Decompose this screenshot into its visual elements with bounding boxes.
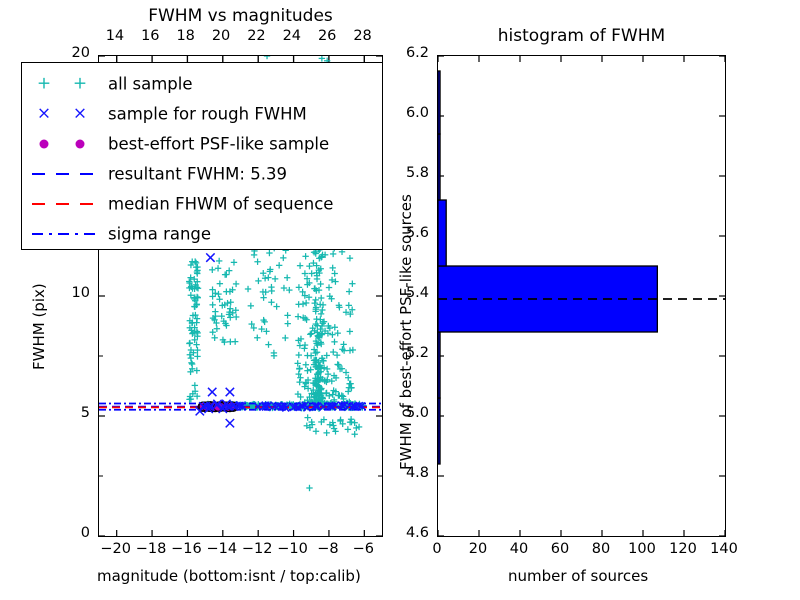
tick-label: 20: [212, 28, 230, 44]
left-panel-title: FWHM vs magnitudes: [98, 6, 383, 26]
legend-label: all sample: [108, 75, 193, 94]
cross-icon: ×: [73, 106, 87, 123]
tick-label: 28: [353, 28, 371, 44]
tick-label: 4.6: [0, 525, 429, 541]
figure-canvas: FWHM vs magnitudes 1416182022242628 0510…: [0, 0, 800, 600]
legend-label: best-effort PSF-like sample: [108, 135, 329, 154]
tick-label: −6: [341, 541, 385, 557]
histogram-bars: [438, 71, 657, 464]
histogram-bar: [438, 71, 440, 134]
tick-label: 60: [538, 541, 582, 557]
tick-label: 80: [579, 541, 623, 557]
legend-item: median FHWM of sequence: [22, 189, 382, 219]
legend-item: sigma range: [22, 219, 382, 249]
dashed-line-icon: [32, 173, 100, 175]
tick-label: 6.2: [0, 45, 429, 61]
tick-label: 22: [247, 28, 265, 44]
legend: ++all sample××sample for rough FWHMbest-…: [21, 62, 383, 250]
tick-label: 5.0: [0, 405, 429, 421]
legend-item: resultant FWHM: 5.39: [22, 159, 382, 189]
legend-item: ××sample for rough FWHM: [22, 99, 382, 129]
tick-label: 26: [318, 28, 336, 44]
tick-label: 16: [141, 28, 159, 44]
tick-label: 140: [702, 541, 746, 557]
tick-label: 5.4: [0, 285, 429, 301]
tick-label: 5.2: [0, 345, 429, 361]
plus-icon: +: [73, 76, 87, 93]
tick-label: 18: [176, 28, 194, 44]
legend-item: ++all sample: [22, 69, 382, 99]
dashdot-line-icon: [32, 233, 100, 235]
circle-icon: [76, 140, 85, 149]
histogram-bar: [438, 134, 440, 200]
plus-icon: +: [37, 76, 51, 93]
right-panel-xlabel: number of sources: [508, 567, 648, 585]
legend-label: median FHWM of sequence: [108, 195, 333, 214]
histogram-bar: [438, 332, 440, 398]
tick-label: 24: [283, 28, 301, 44]
circle-icon: [40, 140, 49, 149]
tick-label: 4.8: [0, 465, 429, 481]
right-plot-area: [437, 55, 726, 537]
tick-label: 100: [620, 541, 664, 557]
legend-label: resultant FWHM: 5.39: [108, 165, 287, 184]
legend-label: sigma range: [108, 225, 211, 244]
tick-label: 40: [497, 541, 541, 557]
tick-label: 20: [456, 541, 500, 557]
dashed-line-icon: [32, 203, 100, 205]
legend-item: best-effort PSF-like sample: [22, 129, 382, 159]
histogram-plot-svg: [438, 56, 725, 536]
histogram-bar: [438, 200, 446, 266]
histogram-bar: [438, 398, 440, 464]
right-panel-ylabel: FWHM of best-effort PSF-like sources: [397, 194, 415, 470]
tick-label: 120: [661, 541, 705, 557]
left-panel-xlabel: magnitude (bottom:isnt / top:calib): [97, 567, 361, 585]
legend-label: sample for rough FWHM: [108, 105, 307, 124]
tick-label: 0: [415, 541, 459, 557]
cross-icon: ×: [37, 106, 51, 123]
right-panel-title: histogram of FWHM: [437, 26, 726, 46]
tick-label: 14: [106, 28, 124, 44]
